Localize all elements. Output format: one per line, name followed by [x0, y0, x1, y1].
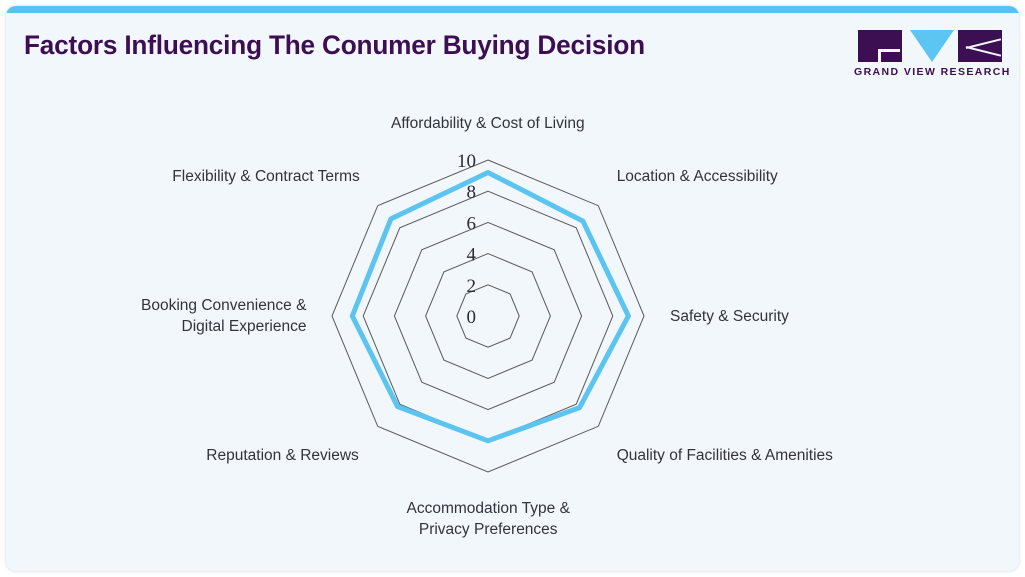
radar-axis-label: Quality of Facilities & Amenities: [617, 445, 833, 466]
radar-axis-label-line: Safety & Security: [670, 306, 789, 327]
radar-series-polygon: [352, 173, 628, 441]
radar-tick-label: 4: [467, 245, 477, 266]
radar-axis-label-line: Flexibility & Contract Terms: [172, 166, 359, 187]
report-card: Factors Influencing The Conumer Buying D…: [6, 6, 1019, 571]
radar-axis-label-line: Quality of Facilities & Amenities: [617, 445, 833, 466]
radar-axis-label-line: Location & Accessibility: [617, 166, 778, 187]
radar-axis-label-line: Reputation & Reviews: [206, 445, 359, 466]
radar-axis-label-line: Booking Convenience &: [141, 295, 306, 316]
radar-axis-label: Flexibility & Contract Terms: [172, 166, 359, 187]
radar-axis-label: Affordability & Cost of Living: [391, 113, 585, 134]
radar-tick-label: 0: [467, 307, 477, 328]
radar-spokes: [332, 160, 644, 472]
radar-series: [352, 173, 628, 441]
radar-tick-label: 2: [467, 276, 477, 297]
radar-axis-label: Location & Accessibility: [617, 166, 778, 187]
radar-axis-label-line: Privacy Preferences: [407, 519, 570, 540]
radar-axis-label-line: Digital Experience: [141, 316, 306, 337]
page-root: Factors Influencing The Conumer Buying D…: [0, 0, 1025, 577]
radar-chart-svg: 0246810: [6, 6, 1019, 571]
radar-tick-label: 8: [467, 182, 477, 203]
radar-tick-label: 10: [457, 151, 476, 172]
radar-axis-label: Accommodation Type &Privacy Preferences: [407, 498, 570, 540]
radar-axis-label: Booking Convenience &Digital Experience: [141, 295, 306, 337]
radar-axis-label: Reputation & Reviews: [206, 445, 359, 466]
radar-axis-label-line: Affordability & Cost of Living: [391, 113, 585, 134]
radar-tick-label: 6: [467, 213, 477, 234]
radar-axis-label: Safety & Security: [670, 306, 789, 327]
radar-chart: 0246810 Affordability & Cost of LivingLo…: [6, 6, 1019, 571]
radar-axis-label-line: Accommodation Type &: [407, 498, 570, 519]
